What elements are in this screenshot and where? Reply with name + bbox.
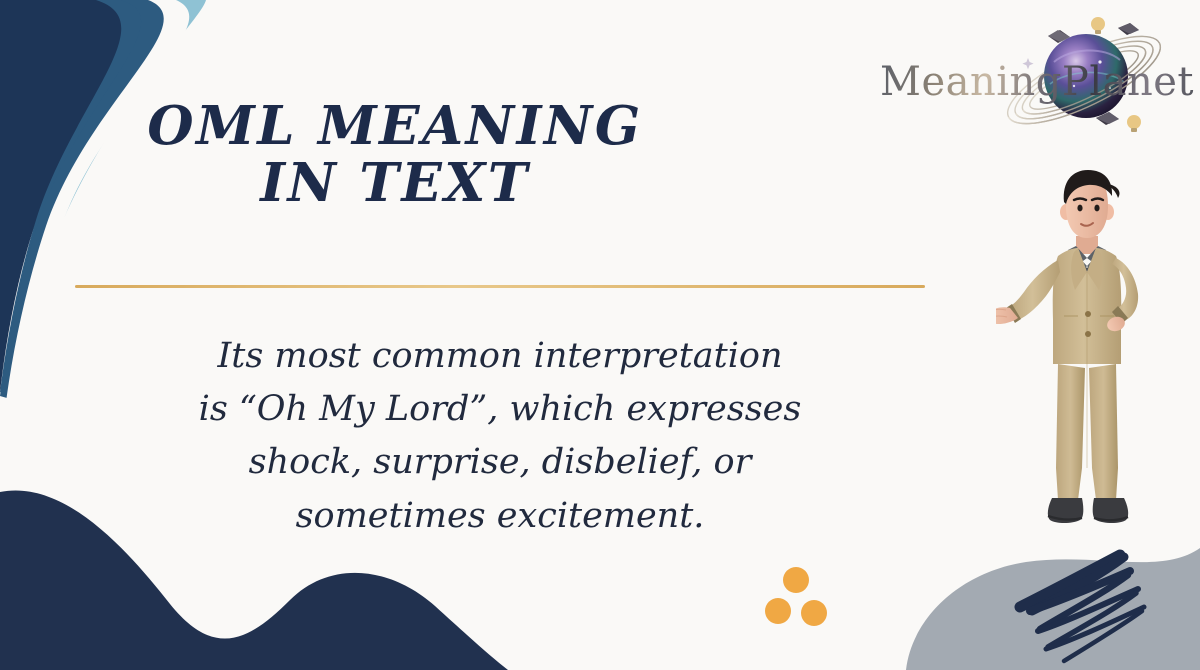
scribble-doodle [1002, 545, 1182, 670]
dot-3 [801, 600, 827, 626]
body-line-1: Its most common interpretation [80, 330, 920, 383]
gold-divider [75, 285, 925, 288]
page-title: OML MEANING IN TEXT [75, 98, 715, 212]
body-line-4: sometimes excitement. [80, 490, 920, 543]
title-line-2: IN TEXT [75, 155, 715, 212]
logo-wordmark: MeaningPlanet [880, 59, 1194, 105]
dot-1 [783, 567, 809, 593]
dot-2 [765, 598, 791, 624]
brand-logo[interactable]: MeaningPlanet [880, 14, 1180, 144]
body-line-2: is “Oh My Lord”, which expresses [80, 383, 920, 436]
orange-dots-decor [765, 567, 835, 632]
businessman-illustration [996, 168, 1176, 543]
body-line-3: shock, surprise, disbelief, or [80, 436, 920, 489]
title-line-1: OML MEANING [75, 98, 715, 155]
poster-canvas: MeaningPlanet OML MEANING IN TEXT Its mo… [0, 0, 1200, 670]
body-text: Its most common interpretation is “Oh My… [80, 330, 920, 543]
